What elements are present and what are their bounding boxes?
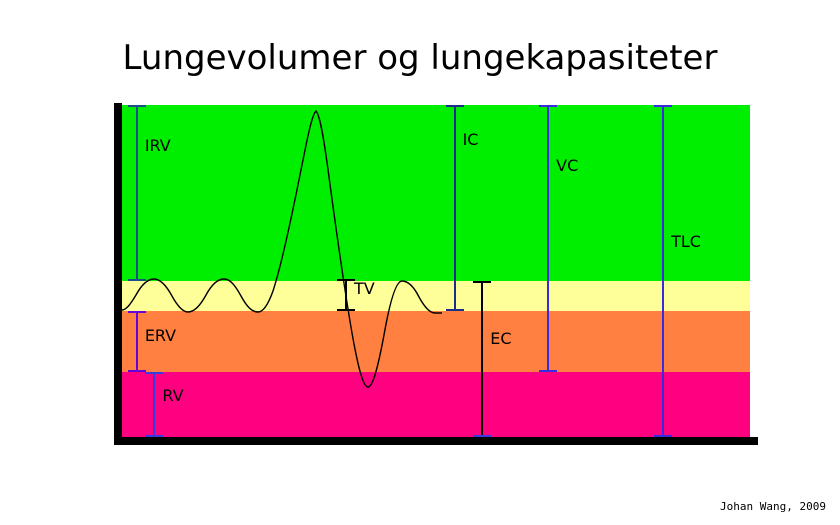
marker-ec-cap-top bbox=[473, 281, 491, 283]
marker-ic-label: IC bbox=[463, 132, 479, 148]
marker-irv-cap-bottom bbox=[128, 279, 146, 281]
marker-vc-stem bbox=[547, 105, 549, 372]
marker-ic-cap-top bbox=[446, 105, 464, 107]
credit-text: Johan Wang, 2009 bbox=[720, 500, 826, 513]
marker-vc-cap-bottom bbox=[539, 370, 557, 372]
marker-erv-label: ERV bbox=[145, 328, 176, 344]
marker-irv-stem bbox=[136, 105, 138, 281]
marker-ic-cap-bottom bbox=[446, 309, 464, 311]
marker-tlc-stem bbox=[662, 105, 664, 437]
y-axis bbox=[114, 103, 122, 445]
x-axis bbox=[114, 437, 758, 445]
marker-vc-cap-top bbox=[539, 105, 557, 107]
marker-rv-label: RV bbox=[162, 388, 183, 404]
marker-erv-stem bbox=[136, 311, 138, 372]
marker-tlc-cap-top bbox=[654, 105, 672, 107]
marker-tv-stem bbox=[345, 279, 347, 311]
marker-irv-cap-top bbox=[128, 105, 146, 107]
marker-tlc-cap-bottom bbox=[654, 435, 672, 437]
marker-rv-stem bbox=[153, 372, 155, 437]
marker-vc-label: VC bbox=[556, 158, 578, 174]
marker-erv-cap-bottom bbox=[128, 370, 146, 372]
marker-layer: IRV TV ERV RV IC bbox=[122, 105, 750, 437]
marker-rv-cap-bottom bbox=[145, 435, 163, 437]
marker-tv-cap-top bbox=[337, 279, 355, 281]
page-title: Lungevolumer og lungekapasiteter bbox=[0, 38, 840, 78]
marker-ec-stem bbox=[481, 281, 483, 437]
diagram-canvas: Lungevolumer og lungekapasiteter IRV TV bbox=[0, 0, 840, 525]
marker-tv-cap-bottom bbox=[337, 309, 355, 311]
marker-rv-cap-top bbox=[145, 372, 163, 374]
marker-ec-label: EC bbox=[490, 331, 511, 347]
marker-irv-label: IRV bbox=[145, 138, 171, 154]
marker-erv-cap-top bbox=[128, 311, 146, 313]
marker-tlc-label: TLC bbox=[671, 234, 701, 250]
marker-ec-cap-bottom bbox=[473, 435, 491, 437]
marker-ic-stem bbox=[454, 105, 456, 311]
marker-tv-label: TV bbox=[354, 281, 375, 297]
